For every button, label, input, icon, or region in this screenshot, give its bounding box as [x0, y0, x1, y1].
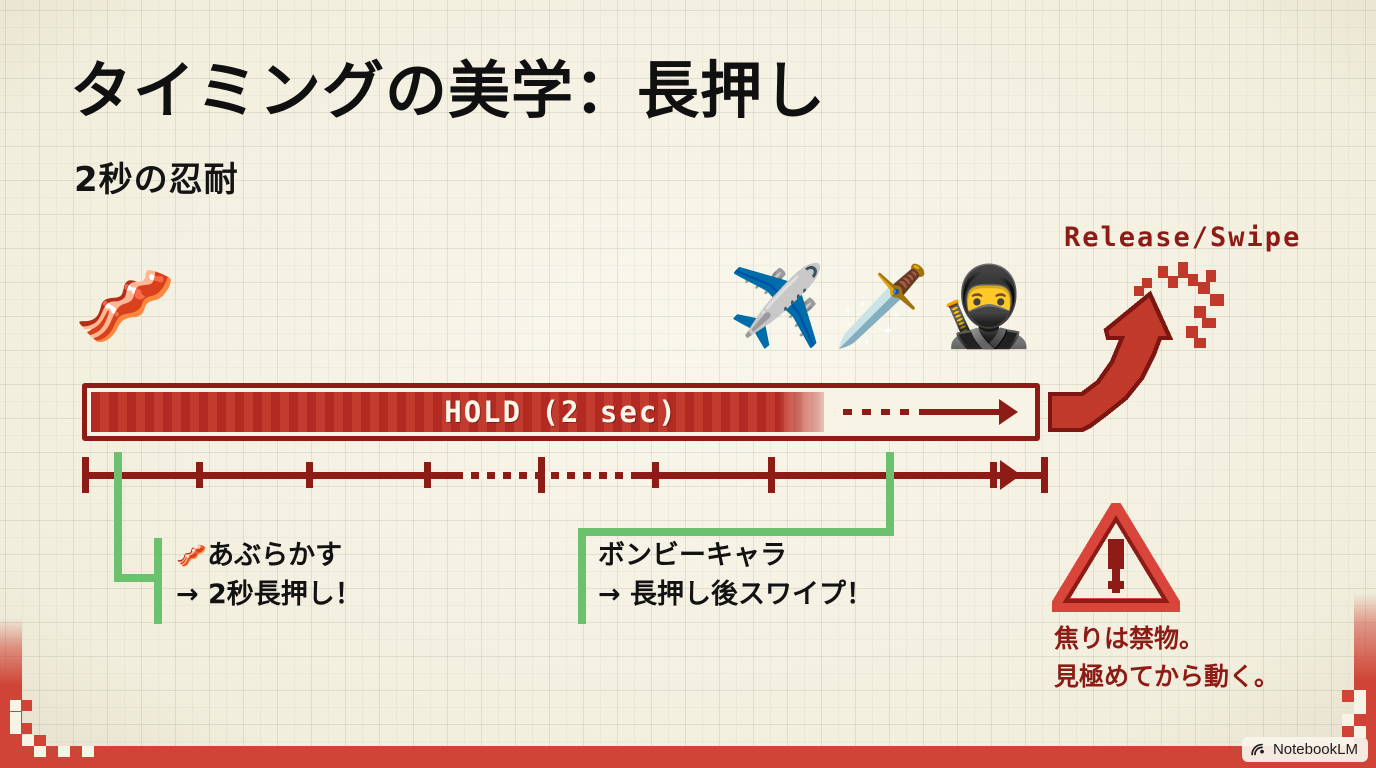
timeline-axis-dashed-segment — [455, 472, 635, 479]
border-pixel — [1354, 714, 1366, 726]
sword-icon: 🗡️ — [833, 268, 930, 346]
annotation-bonbie-line2: → 長押し後スワイプ！ — [598, 575, 873, 614]
airplane-icon: ✈️ — [728, 268, 825, 346]
progress-track: HOLD (2 sec) — [91, 392, 1031, 432]
warning-triangle-icon — [1052, 503, 1180, 613]
progress-label: HOLD (2 sec) — [91, 392, 1031, 432]
page-title: タイミングの美学：長押し — [70, 58, 826, 123]
release-curved-arrow-icon — [1046, 258, 1246, 438]
warning-text: 焦りは禁物。 見極めてから動く。 — [1054, 620, 1279, 695]
notebooklm-logo-icon — [1250, 741, 1267, 758]
timeline-tick-end — [1041, 457, 1048, 493]
notebooklm-watermark: NotebookLM — [1242, 737, 1368, 762]
warning-line-1: 焦りは禁物。 — [1054, 620, 1279, 658]
annotation-aburakasu-text1: あぶらかす — [207, 540, 342, 571]
border-pixel — [34, 746, 46, 757]
ninja-icon: 🥷 — [938, 268, 1035, 346]
timeline-tick — [82, 457, 89, 493]
annotation-bonbie-line1: ボンビーキャラ — [598, 536, 873, 575]
bracket-1-right-stem — [154, 538, 162, 624]
border-pixel — [58, 746, 70, 757]
border-pixel — [1342, 690, 1354, 702]
border-pixel — [1342, 714, 1354, 726]
border-pixel — [22, 735, 34, 746]
bacon-inline-icon: 🥓 — [176, 541, 207, 570]
bracket-2-connector — [578, 528, 894, 536]
annotation-aburakasu: 🥓あぶらかす → 2秒長押し！ — [176, 536, 362, 614]
slide-canvas: タイミングの美学：長押し 2秒の忍耐 🥓 ✈️ 🗡️ 🥷 HOLD (2 sec… — [0, 0, 1376, 768]
timeline-tick — [652, 462, 659, 488]
release-swipe-label: Release/Swipe — [1064, 222, 1301, 253]
timeline-tick — [990, 462, 997, 488]
timeline-tick — [538, 457, 545, 493]
timeline-tick — [306, 462, 313, 488]
timeline-arrow-head — [1000, 460, 1021, 490]
annotation-aburakasu-line2: → 2秒長押し！ — [176, 575, 362, 614]
border-pixel — [10, 700, 21, 711]
bracket-1-left-stem — [114, 452, 122, 582]
annotation-aburakasu-line1: 🥓あぶらかす — [176, 536, 362, 575]
page-subtitle: 2秒の忍耐 — [74, 152, 239, 201]
hold-progress-bar[interactable]: HOLD (2 sec) — [82, 383, 1040, 441]
decorative-border-bottom — [0, 746, 1376, 768]
border-pixel — [82, 746, 94, 757]
warning-line-2: 見極めてから動く。 — [1054, 658, 1279, 696]
bacon-icon: 🥓 — [74, 266, 176, 348]
timeline-tick — [768, 457, 775, 493]
border-pixel — [1354, 702, 1366, 714]
border-pixel — [34, 735, 46, 746]
border-pixel — [1354, 690, 1366, 702]
border-pixel — [10, 712, 21, 723]
timeline-tick — [424, 462, 431, 488]
border-pixel — [21, 723, 32, 734]
border-pixel — [70, 746, 82, 757]
bracket-2-right-stem — [886, 452, 894, 528]
bracket-2-left-stem — [578, 528, 586, 624]
decorative-border-left — [0, 618, 22, 768]
notebooklm-watermark-label: NotebookLM — [1273, 741, 1358, 758]
border-pixel — [10, 723, 21, 734]
border-pixel — [21, 700, 32, 711]
annotation-bonbie: ボンビーキャラ → 長押し後スワイプ！ — [598, 536, 873, 614]
timeline-tick — [196, 462, 203, 488]
border-pixel — [46, 746, 58, 757]
